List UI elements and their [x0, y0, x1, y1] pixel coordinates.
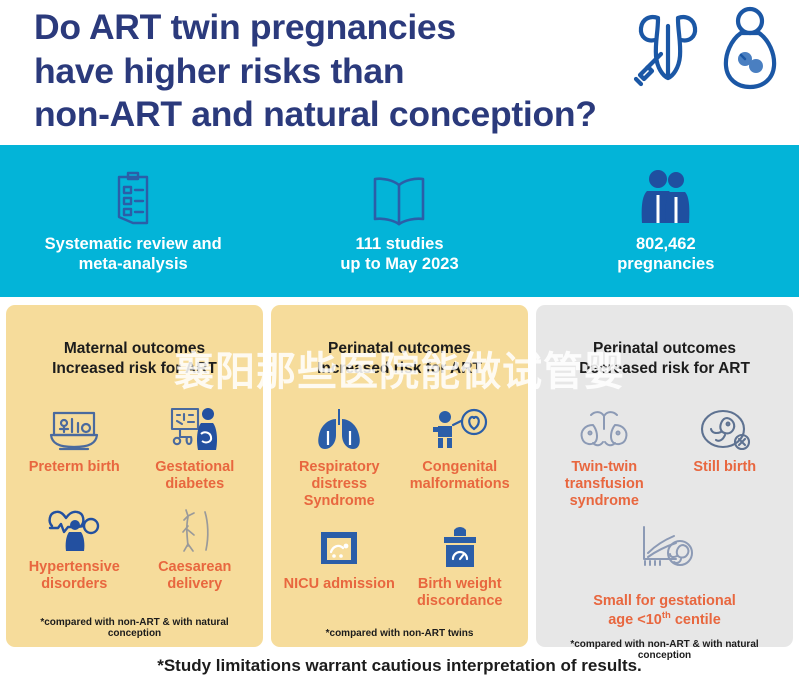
tile-birth-weight-discordance: Birth weight discordance [400, 520, 521, 620]
tile-respiratory-distress-syndrome: Respiratory distress Syndrome [279, 403, 400, 520]
stats-band: Systematic review and meta-analysis 111 … [0, 145, 799, 297]
tile-label: Caesarean delivery [158, 559, 231, 593]
glucose-monitor-pregnant-icon [166, 403, 224, 455]
tile-label: Still birth [693, 459, 756, 476]
tile-caesarean-delivery: Caesarean delivery [135, 503, 256, 603]
baby-heart-icon [431, 403, 489, 455]
stat-label: 802,462 pregnancies [617, 235, 714, 275]
tile-label: Small for gestational age <10th centile [593, 576, 736, 629]
tile-label-text: Small for gestational age <10th centile [593, 593, 736, 628]
twin-fetuses-shared-placenta-icon [571, 403, 637, 455]
clipboard-checklist-icon [109, 167, 157, 229]
tile-small-for-gestational-age: Small for gestational age <10th centile [544, 520, 785, 639]
tile-label: Hypertensive disorders [29, 559, 120, 593]
tile-grid: Preterm birth [14, 379, 255, 617]
title-line-1: Do ART twin pregnancies [34, 6, 634, 50]
tile-gestational-diabetes: Gestational diabetes [135, 403, 256, 503]
uterus-syringe-ivf-icon [625, 6, 711, 97]
lungs-icon [312, 403, 366, 455]
stat-pregnancies-count: 802,462 pregnancies [533, 167, 799, 275]
tile-label: Preterm birth [29, 459, 120, 476]
panel-heading: Perinatal outcomes Increased risk for AR… [279, 339, 520, 379]
stat-label: 111 studies up to May 2023 [340, 235, 458, 275]
baby-weighing-scale-icon [434, 520, 486, 572]
nicu-bassinet-icon [313, 520, 365, 572]
tile-label: NICU admission [284, 576, 395, 593]
tile-hypertensive-disorders: Hypertensive disorders [14, 503, 135, 603]
tile-twin-twin-transfusion-syndrome: Twin-twin transfusion syndrome [544, 403, 665, 520]
tile-grid: Twin-twin transfusion syndrome [544, 379, 785, 639]
growth-chart-fetus-icon [628, 520, 702, 572]
title-line-3: non-ART and natural conception? [34, 93, 634, 137]
tile-label: Respiratory distress Syndrome [281, 459, 398, 510]
tile-grid: Respiratory distress Syndrome [279, 379, 520, 628]
header: Do ART twin pregnancies have higher risk… [0, 0, 799, 145]
title-line-2: have higher risks than [34, 50, 634, 94]
tile-label: Gestational diabetes [155, 459, 234, 493]
panel-perinatal-decreased: Perinatal outcomes Decreased risk for AR… [536, 305, 793, 647]
panel-heading: Maternal outcomes Increased risk for ART [14, 339, 255, 379]
tile-congenital-malformations: Congenital malformations [400, 403, 521, 520]
outcome-panels: Maternal outcomes Increased risk for ART [0, 297, 799, 647]
open-book-icon [368, 167, 430, 229]
fetus-cross-icon [697, 403, 753, 455]
incubator-cot-icon [46, 403, 102, 455]
two-people-icon [639, 167, 693, 229]
panel-footnote: *compared with non-ART twins [279, 628, 520, 641]
tile-label: Twin-twin transfusion syndrome [565, 459, 644, 510]
panel-heading: Perinatal outcomes Decreased risk for AR… [544, 339, 785, 379]
pregnant-twins-icon [721, 6, 779, 97]
tile-label: Congenital malformations [410, 459, 510, 493]
tile-label: Birth weight discordance [417, 576, 502, 610]
stat-systematic-review: Systematic review and meta-analysis [0, 167, 266, 275]
stat-label: Systematic review and meta-analysis [45, 235, 222, 275]
stat-studies-count: 111 studies up to May 2023 [266, 167, 532, 275]
panel-perinatal-increased: Perinatal outcomes Increased risk for AR… [271, 305, 528, 647]
tile-preterm-birth: Preterm birth [14, 403, 135, 503]
panel-footnote: *compared with non-ART & with natural co… [14, 617, 255, 641]
header-icon-group [625, 6, 779, 97]
page-title: Do ART twin pregnancies have higher risk… [34, 6, 634, 137]
caesarean-incision-icon [170, 503, 220, 555]
panel-maternal-outcomes: Maternal outcomes Increased risk for ART [6, 305, 263, 647]
panel-footnote: *compared with non-ART & with natural co… [544, 639, 785, 663]
tile-nicu-admission: NICU admission [279, 520, 400, 620]
blood-pressure-pregnant-icon [44, 503, 104, 555]
tile-still-birth: Still birth [665, 403, 786, 520]
